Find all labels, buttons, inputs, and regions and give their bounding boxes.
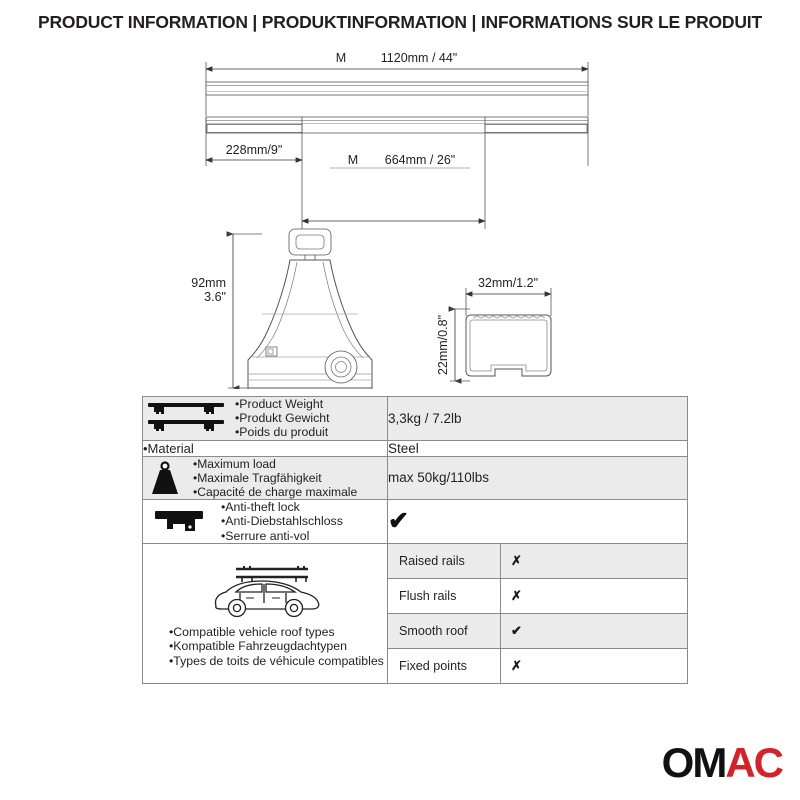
spec-value-material: Steel	[388, 440, 688, 456]
spec-label-cell: •Maximum load •Maximale Tragfähigkeit •C…	[143, 456, 388, 500]
table-row: •Maximum load •Maximale Tragfähigkeit •C…	[143, 456, 688, 500]
profile-height-value: 22mm/0.8"	[436, 315, 450, 375]
logo-text-om: OM	[662, 739, 726, 786]
roof-types-label-text: •Compatible vehicle roof types •Kompatib…	[143, 625, 387, 668]
table-row: •Compatible vehicle roof types •Kompatib…	[143, 543, 688, 683]
technical-drawings: M 1120mm / 44" 228mm/9" M 664mm / 26" 92…	[0, 44, 800, 389]
spec-label-material: •Material	[143, 440, 388, 456]
spread-prefix: M	[348, 153, 358, 167]
roof-types-label-cell: •Compatible vehicle roof types •Kompatib…	[143, 543, 388, 683]
table-row: •Anti-theft lock •Anti-Diebstahlschloss …	[143, 500, 688, 544]
spec-value-maximum-load: max 50kg/110lbs	[388, 456, 688, 500]
logo-text-ac: AC	[725, 739, 782, 786]
weight-icon	[143, 460, 187, 496]
roof-type-row: Smooth roof ✔	[388, 613, 687, 648]
roof-type-name-smooth-roof: Smooth roof	[388, 613, 501, 648]
spec-label-text: •Product Weight •Produkt Gewicht •Poids …	[235, 397, 330, 440]
roof-type-name-fixed-points: Fixed points	[388, 648, 501, 683]
spread-value: 664mm / 26"	[385, 153, 455, 167]
bar-length-value: 1120mm / 44"	[381, 51, 457, 65]
table-row: •Material Steel	[143, 440, 688, 456]
foot-height-line2: 3.6"	[204, 290, 226, 304]
page-title: PRODUCT INFORMATION | PRODUKTINFORMATION…	[0, 12, 800, 33]
omac-logo: OMAC	[662, 742, 782, 784]
roof-type-mark-raised-rails: ✗	[501, 544, 688, 579]
table-row: •Product Weight •Produkt Gewicht •Poids …	[143, 397, 688, 441]
lock-icon	[143, 507, 215, 537]
spec-value-product-weight: 3,3kg / 7.2lb	[388, 397, 688, 441]
roof-type-name-flush-rails: Flush rails	[388, 578, 501, 613]
roof-type-name-raised-rails: Raised rails	[388, 544, 501, 579]
roof-type-row: Fixed points ✗	[388, 648, 687, 683]
crossbars-icon	[143, 399, 229, 437]
roof-type-mark-smooth-roof: ✔	[501, 613, 688, 648]
spec-label-text: •Anti-theft lock •Anti-Diebstahlschloss …	[221, 500, 343, 543]
profile-width-value: 32mm/1.2"	[478, 276, 538, 290]
spec-label-text: •Maximum load •Maximale Tragfähigkeit •C…	[193, 457, 357, 500]
spec-value-anti-theft-lock: ✔	[388, 500, 688, 544]
roof-type-row: Flush rails ✗	[388, 578, 687, 613]
roof-types-table-cell: Raised rails ✗ Flush rails ✗	[388, 543, 688, 683]
foot-height-line1: 92mm	[191, 276, 226, 290]
roof-types-table: Raised rails ✗ Flush rails ✗	[388, 544, 687, 683]
bar-length-prefix: M	[336, 51, 346, 65]
spec-label-cell: •Product Weight •Produkt Gewicht •Poids …	[143, 397, 388, 441]
specification-table: •Product Weight •Produkt Gewicht •Poids …	[142, 396, 688, 684]
spec-label-cell: •Anti-theft lock •Anti-Diebstahlschloss …	[143, 500, 388, 544]
end-offset-value: 228mm/9"	[226, 143, 283, 157]
car-with-rack-icon	[143, 559, 387, 625]
roof-type-row: Raised rails ✗	[388, 544, 687, 579]
roof-type-mark-fixed-points: ✗	[501, 648, 688, 683]
roof-type-mark-flush-rails: ✗	[501, 578, 688, 613]
